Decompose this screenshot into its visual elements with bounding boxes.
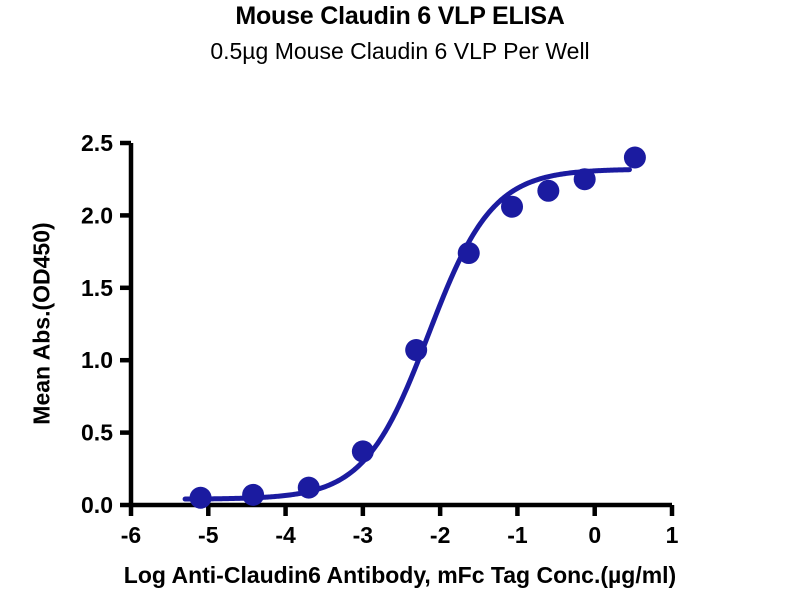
y-tick-label: 1.0 <box>81 347 113 373</box>
data-point <box>574 168 596 190</box>
x-tick-label: -5 <box>198 522 219 548</box>
x-tick-label: 0 <box>588 522 601 548</box>
y-tick-labels: 0.00.51.01.52.02.5 <box>81 130 113 518</box>
axes <box>120 143 672 516</box>
chart-figure: Mouse Claudin 6 VLP ELISA 0.5µg Mouse Cl… <box>0 0 800 600</box>
x-tick-label: -4 <box>275 522 296 548</box>
plot-area: -6-5-4-3-2-101 0.00.51.01.52.02.5 <box>0 0 800 600</box>
data-point <box>624 146 646 168</box>
data-point <box>537 180 559 202</box>
fit-curve <box>185 170 629 499</box>
fit-curve-path <box>185 170 629 499</box>
data-point <box>405 339 427 361</box>
y-tick-label: 1.5 <box>81 275 113 301</box>
data-points <box>190 146 646 508</box>
x-tick-labels: -6-5-4-3-2-101 <box>121 522 679 548</box>
x-tick-label: -1 <box>507 522 528 548</box>
x-tick-label: 1 <box>666 522 679 548</box>
y-tick-label: 2.5 <box>81 130 113 156</box>
data-point <box>501 196 523 218</box>
data-point <box>352 440 374 462</box>
x-tick-label: -3 <box>353 522 373 548</box>
x-tick-label: -6 <box>121 522 141 548</box>
y-tick-label: 2.0 <box>81 202 113 228</box>
data-point <box>458 242 480 264</box>
y-tick-label: 0.5 <box>81 420 113 446</box>
y-tick-label: 0.0 <box>81 492 113 518</box>
data-point <box>190 487 212 509</box>
data-point <box>298 477 320 499</box>
x-tick-label: -2 <box>430 522 450 548</box>
data-point <box>242 484 264 506</box>
